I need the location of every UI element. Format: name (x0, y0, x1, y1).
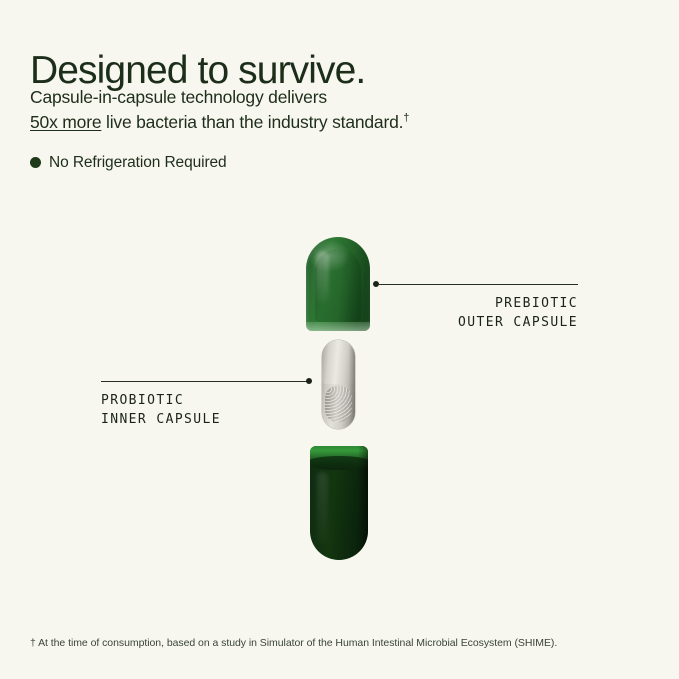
leader-line-probiotic (101, 381, 307, 382)
filled-capsule-highlight (317, 472, 328, 544)
inner-capsule-shading (349, 340, 355, 429)
outer-capsule-highlight (316, 251, 329, 303)
subheadline-line-2: 50x more live bacteria than the industry… (30, 110, 409, 135)
leader-dot-prebiotic (373, 281, 379, 287)
subheadline-line-1: Capsule-in-capsule technology delivers (30, 87, 327, 107)
filled-capsule-meniscus (310, 456, 368, 470)
callout-probiotic-line-1: PROBIOTIC (101, 391, 321, 410)
emphasis-50x-more: 50x more (30, 112, 101, 132)
filled-capsule-shading (358, 446, 368, 560)
callout-prebiotic-line-2: OUTER CAPSULE (380, 313, 578, 332)
probiotic-inner-capsule-pill (322, 340, 355, 429)
dagger-footnote-marker: † (403, 112, 409, 124)
filled-circle-bullet-icon (30, 157, 41, 168)
status-badge-label: No Refrigeration Required (49, 155, 227, 171)
subheadline-line-2-rest: live bacteria than the industry standard… (101, 112, 403, 132)
callout-prebiotic-line-1: PREBIOTIC (380, 294, 578, 313)
outer-capsule-inner-shadow (315, 249, 361, 322)
inner-capsule-cap (322, 340, 355, 384)
leader-dot-probiotic (306, 378, 312, 384)
callout-probiotic-inner-capsule: PROBIOTIC INNER CAPSULE (101, 391, 321, 429)
filled-combined-capsule (310, 446, 368, 560)
callout-prebiotic-outer-capsule: PREBIOTIC OUTER CAPSULE (380, 294, 578, 332)
marketing-panel: Designed to survive. Capsule-in-capsule … (0, 0, 679, 679)
outer-capsule-rim (306, 322, 370, 331)
leader-line-prebiotic (379, 284, 578, 285)
footnote-text: † At the time of consumption, based on a… (30, 636, 557, 650)
filled-capsule-rim (310, 446, 368, 463)
prebiotic-outer-capsule-shell (306, 237, 370, 331)
inner-capsule-powder (325, 386, 352, 422)
subheadline: Capsule-in-capsule technology delivers 5… (30, 85, 409, 135)
status-badge: No Refrigeration Required (30, 155, 227, 171)
callout-probiotic-line-2: INNER CAPSULE (101, 410, 321, 429)
